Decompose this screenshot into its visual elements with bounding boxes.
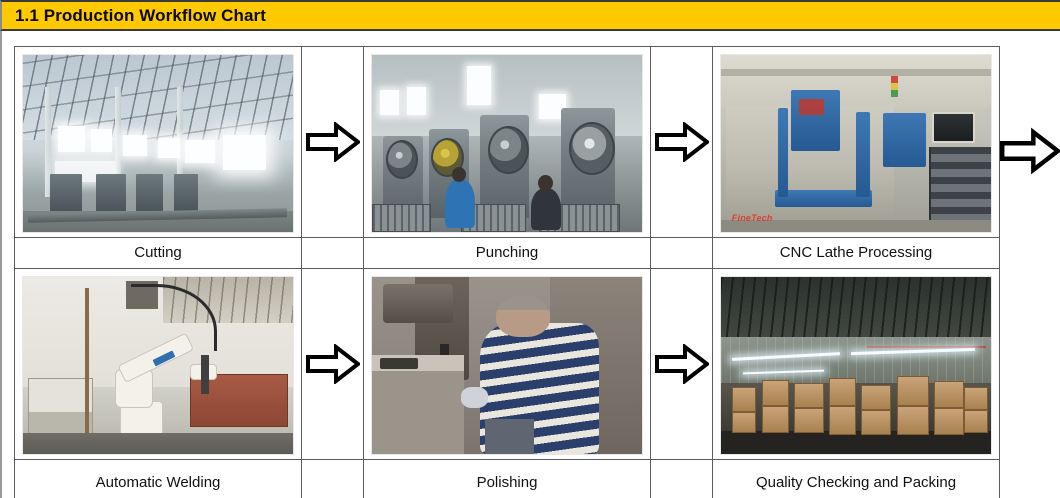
- carton-box: [732, 387, 756, 412]
- cutting-machine: [50, 174, 82, 213]
- photo-quality-checking-packing: [720, 276, 992, 455]
- window-glare: [467, 66, 491, 105]
- right-arrow-icon-trailing: [1000, 126, 1060, 176]
- photo-cnc-lathe: FineTech: [720, 54, 992, 233]
- drill-press-head: [383, 284, 453, 323]
- carton-box: [934, 408, 964, 435]
- cnc-monitor: [932, 112, 975, 144]
- carton-box: [964, 387, 988, 410]
- photo-cell-cnc: FineTech: [713, 47, 1000, 238]
- machine-brand-label: FineTech: [732, 213, 773, 223]
- photo-cell-packing: [713, 269, 1000, 460]
- worker-leg: [485, 419, 534, 454]
- right-arrow-icon: [302, 122, 363, 162]
- carton-box: [794, 383, 824, 408]
- cnc-control-panel: [883, 113, 926, 166]
- table-row-captions-top: Cutting Punching CNC Lathe Processing: [15, 238, 1000, 269]
- photo-cell-polishing: [364, 269, 651, 460]
- caption-spacer: [651, 460, 713, 498]
- worker-dark-shirt: [531, 188, 561, 230]
- parts-crate: [372, 204, 431, 232]
- storage-rack: [929, 147, 991, 221]
- production-workflow-page: 1.1 Production Workflow Chart: [0, 0, 1060, 498]
- flywheel: [569, 122, 615, 175]
- support-pole: [85, 288, 89, 437]
- photo-punching: [371, 54, 643, 233]
- carton-box: [897, 406, 929, 434]
- carton-box: [829, 406, 856, 434]
- caption-automatic-welding: Automatic Welding: [15, 460, 302, 498]
- window-glare: [123, 135, 147, 156]
- caption-quality-checking-and-packing: Quality Checking and Packing: [713, 460, 1000, 498]
- caption-cutting: Cutting: [15, 238, 302, 269]
- caption-punching: Punching: [364, 238, 651, 269]
- table-row-captions-bottom: Automatic Welding Polishing Quality Chec…: [15, 460, 1000, 498]
- carton-box: [964, 410, 988, 433]
- flywheel: [386, 140, 418, 179]
- photo-automatic-welding: [22, 276, 294, 455]
- caption-cnc-lathe-processing: CNC Lathe Processing: [713, 238, 1000, 269]
- machine-column-left: [778, 108, 789, 197]
- window-glare: [58, 126, 85, 153]
- worker-head: [496, 295, 550, 337]
- arrow-cell-4: [651, 269, 713, 460]
- right-arrow-icon: [651, 344, 712, 384]
- carton-box: [762, 380, 789, 407]
- photo-cell-welding: [15, 269, 302, 460]
- caption-spacer: [651, 238, 713, 269]
- table-row-photos-top: FineTech: [15, 47, 1000, 238]
- carton-box: [897, 376, 929, 406]
- carton-box: [829, 378, 856, 406]
- cutting-machine: [174, 174, 198, 213]
- ceiling-beam: [721, 69, 991, 76]
- flywheel: [488, 126, 529, 174]
- page-left-rule: [0, 31, 2, 498]
- window-glare: [185, 140, 215, 163]
- arrow-cell-1: [302, 47, 364, 238]
- page-title: 1.1 Production Workflow Chart: [2, 7, 266, 24]
- carton-box: [794, 408, 824, 433]
- carton-box: [861, 385, 891, 410]
- hand-tools: [380, 358, 418, 369]
- worker-gloved-hand: [461, 387, 488, 408]
- arrow-cell-2: [651, 47, 713, 238]
- photo-cell-punching: [364, 47, 651, 238]
- welding-torch: [201, 355, 209, 394]
- window-glare: [91, 129, 113, 152]
- machine-decal: [799, 99, 823, 115]
- carton-box: [934, 381, 964, 408]
- caption-spacer: [302, 460, 364, 498]
- window-glare: [158, 138, 180, 157]
- photo-cell-cutting: [15, 47, 302, 238]
- right-arrow-icon: [651, 122, 712, 162]
- carton-box: [762, 406, 789, 433]
- section-header-band: 1.1 Production Workflow Chart: [0, 0, 1060, 31]
- workshop-wall: [721, 55, 991, 108]
- worker-blue-shirt: [445, 179, 475, 229]
- workflow-table: FineTech Cutting Punching CNC Lathe Proc…: [14, 46, 1000, 498]
- window-glare: [380, 90, 399, 115]
- work-bench: [372, 355, 464, 454]
- table-row-photos-bottom: [15, 269, 1000, 460]
- photo-polishing: [371, 276, 643, 455]
- photo-cutting: [22, 54, 294, 233]
- cutting-machine: [136, 174, 163, 213]
- caption-spacer: [302, 238, 364, 269]
- carton-box: [861, 410, 891, 435]
- arrow-cell-3: [302, 269, 364, 460]
- status-tower-light: [891, 76, 898, 97]
- cutting-machine: [96, 174, 126, 213]
- caption-polishing: Polishing: [364, 460, 651, 498]
- workshop-floor: [23, 433, 293, 454]
- right-arrow-icon: [302, 344, 363, 384]
- machine-column-right: [856, 112, 870, 197]
- welding-power-cart: [28, 378, 93, 435]
- window-glare: [407, 87, 426, 115]
- window-glare: [223, 135, 266, 170]
- warehouse-wall: [721, 337, 991, 383]
- carton-box: [732, 412, 756, 433]
